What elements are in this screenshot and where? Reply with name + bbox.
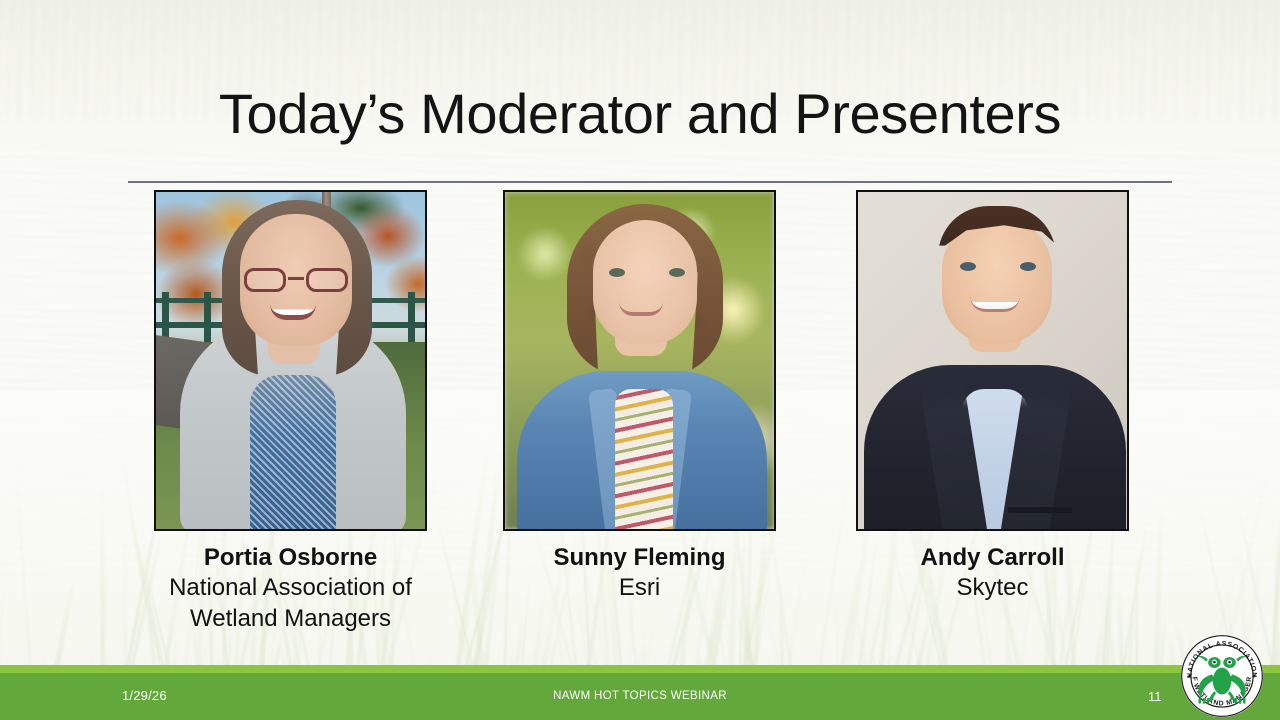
eyeglasses-icon: [244, 268, 348, 292]
presenter-photo-portia-osborne: [154, 190, 427, 531]
title-divider: [128, 181, 1172, 183]
presenter-photo-andy-carroll: [856, 190, 1129, 531]
presentation-slide: Today’s Moderator and Presenters: [0, 0, 1280, 720]
presenter-name: Portia Osborne: [128, 543, 453, 573]
presenter-card-sunny-fleming: Sunny Fleming Esri: [477, 190, 802, 604]
presenter-org-line-1: National Association of: [128, 573, 453, 604]
presenter-photo-sunny-fleming: [503, 190, 776, 531]
nawm-logo: NATIONAL ASSOCIATION OF WETLAND MANAGERS: [1180, 634, 1264, 718]
page-title: Today’s Moderator and Presenters: [0, 84, 1280, 144]
floral-scarf: [615, 389, 673, 529]
presenter-caption: Portia Osborne National Association of W…: [128, 543, 453, 634]
presenter-org-line-2: Wetland Managers: [128, 604, 453, 635]
presenter-org-line-1: Skytec: [830, 573, 1155, 604]
presenter-name: Andy Carroll: [830, 543, 1155, 573]
presenter-caption: Sunny Fleming Esri: [477, 543, 802, 604]
slide-number: 11: [1148, 689, 1162, 704]
presenter-caption: Andy Carroll Skytec: [830, 543, 1155, 604]
presenter-org-line-1: Esri: [477, 573, 802, 604]
presenter-card-portia-osborne: Portia Osborne National Association of W…: [128, 190, 453, 634]
footer-title: NAWM HOT TOPICS WEBINAR: [0, 690, 1280, 702]
presenter-card-andy-carroll: Andy Carroll Skytec: [830, 190, 1155, 604]
presenter-name: Sunny Fleming: [477, 543, 802, 573]
floral-blouse: [250, 375, 336, 529]
face: [593, 220, 697, 344]
footer-accent-stripe: [0, 665, 1280, 673]
